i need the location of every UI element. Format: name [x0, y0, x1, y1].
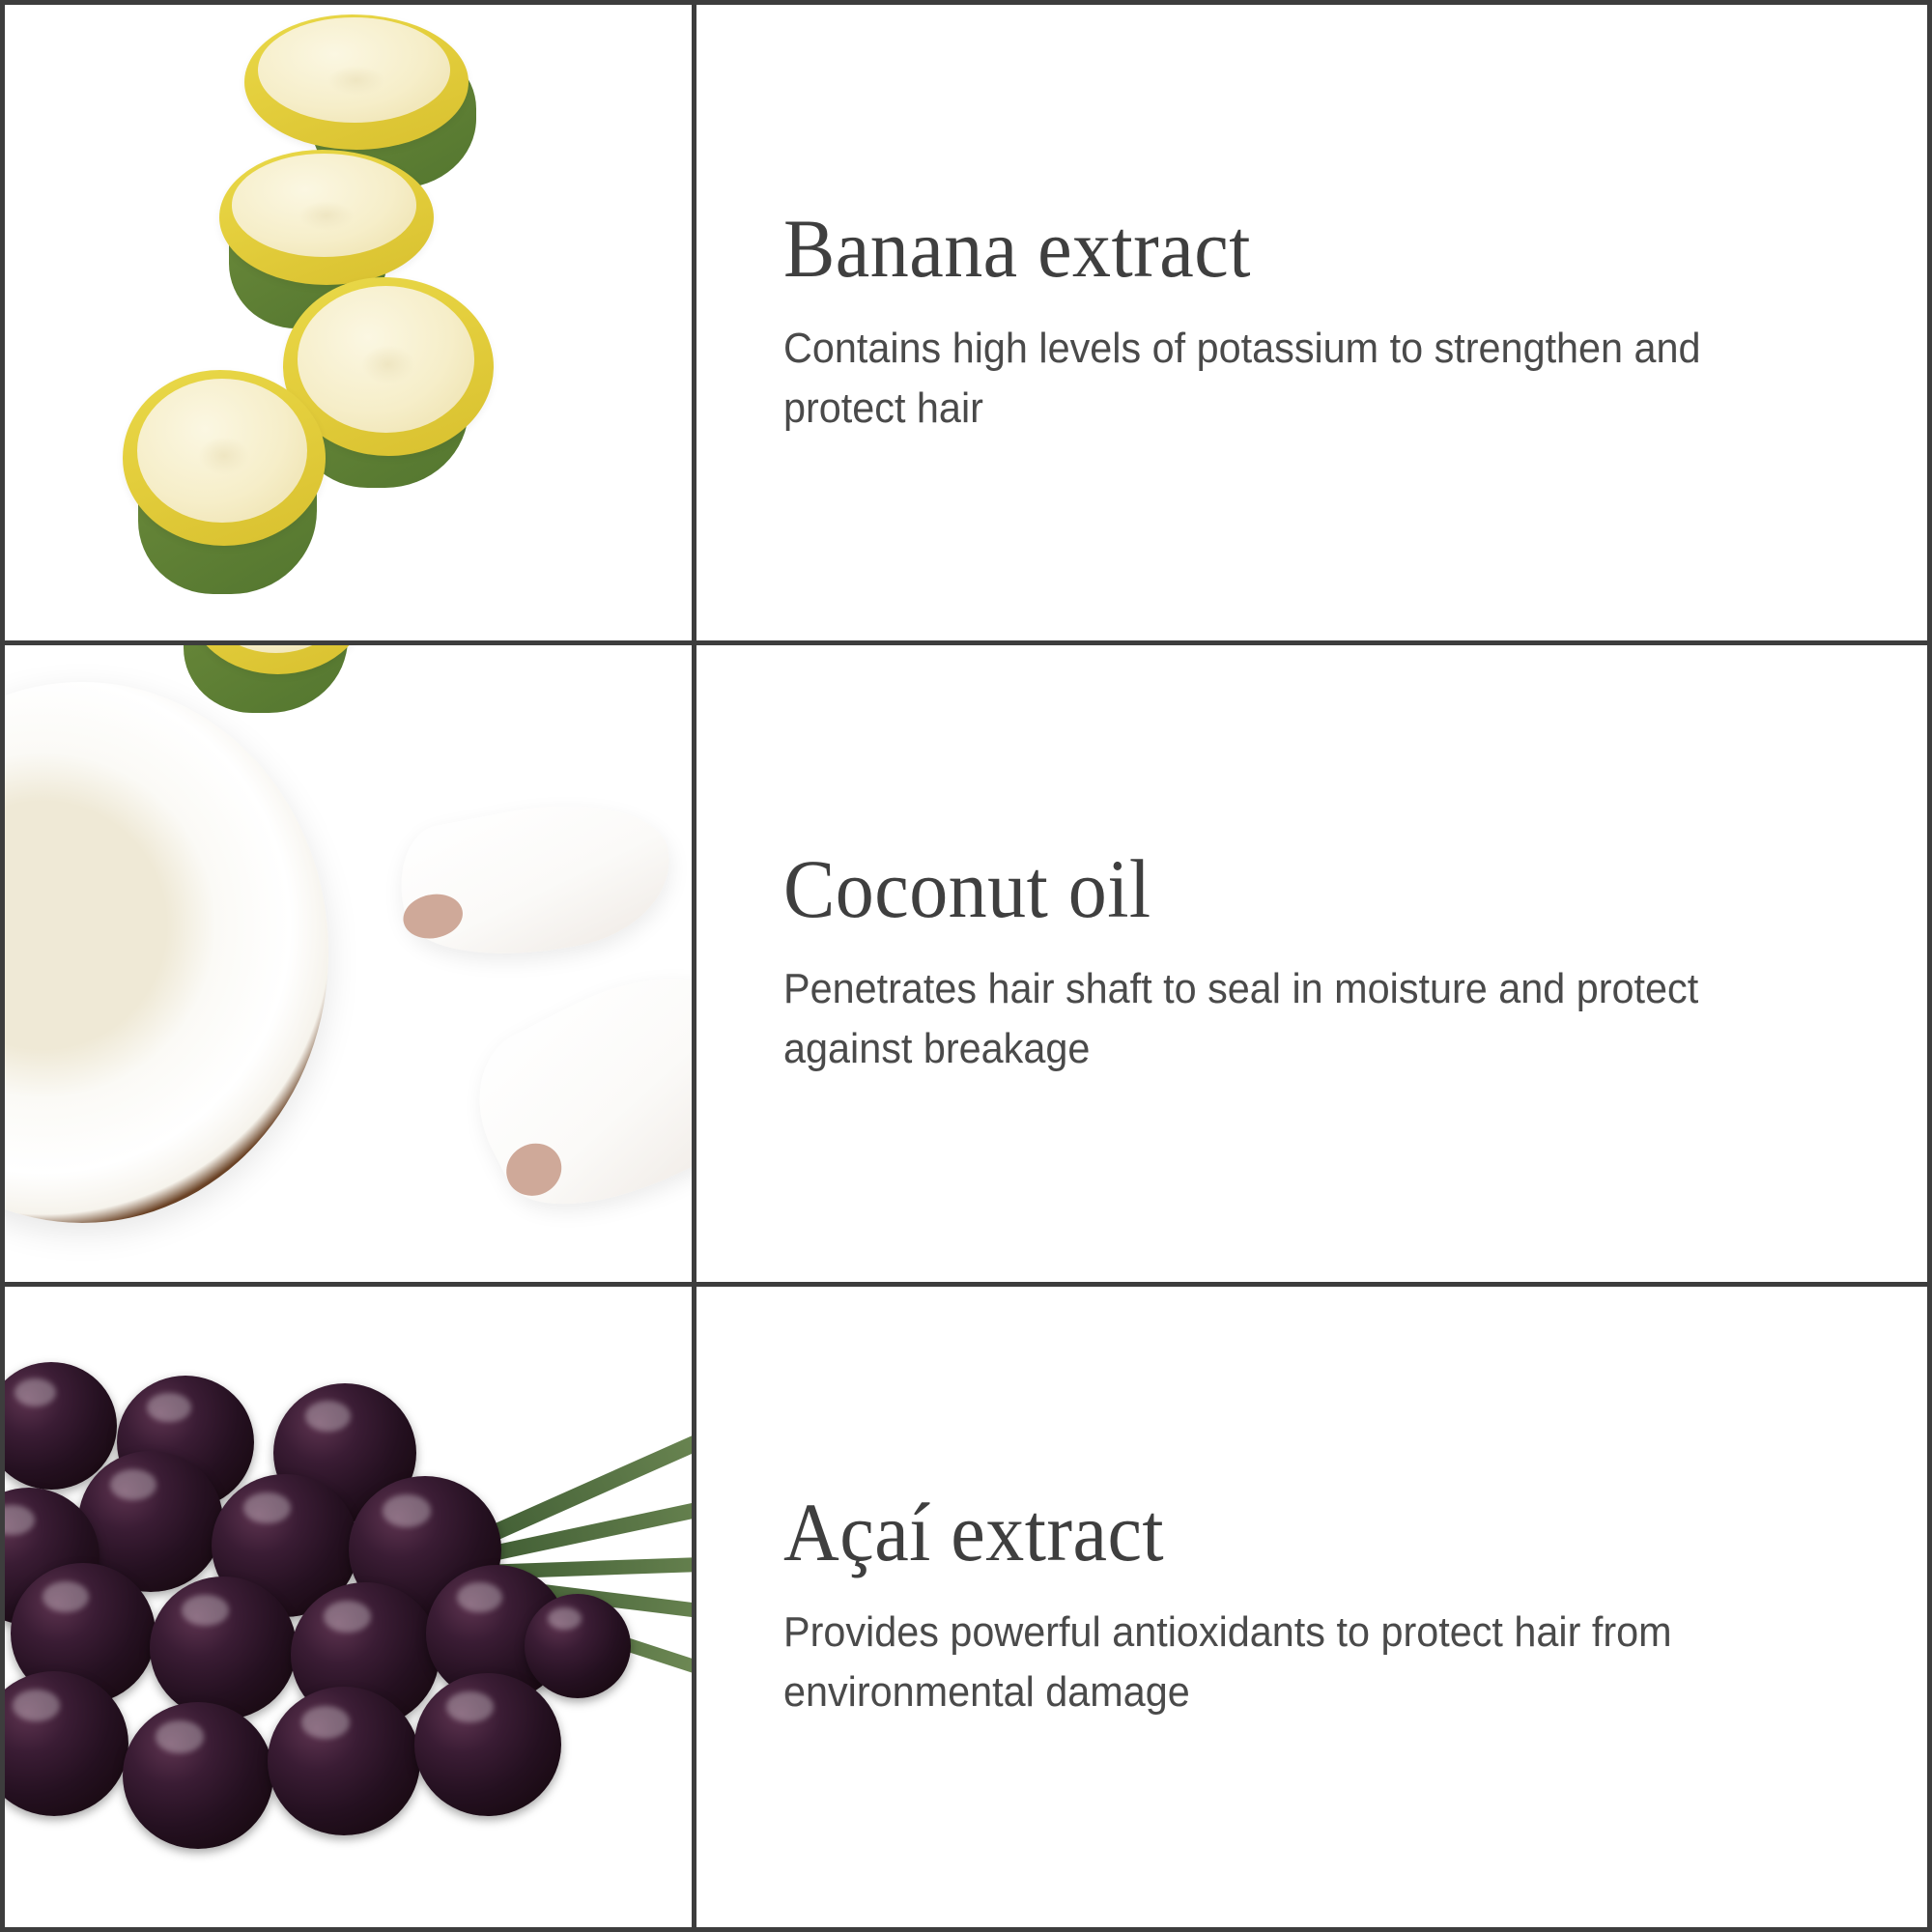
- acai-illustration: [5, 1287, 692, 1927]
- acai-berry: [525, 1594, 631, 1698]
- coconut-rind: [497, 1134, 571, 1206]
- coconut-illustration: [5, 645, 692, 1281]
- coconut-image-cell: [5, 645, 696, 1286]
- panel-body-coconut: Penetrates hair shaft to seal in moistur…: [783, 959, 1746, 1080]
- acai-berry: [123, 1702, 273, 1849]
- acai-text-cell: Açaí extract Provides powerful antioxida…: [696, 1287, 1927, 1927]
- banana-flesh: [203, 645, 350, 653]
- panel-body-banana: Contains high levels of potassium to str…: [783, 319, 1746, 440]
- ingredient-benefits-panel: Banana extract Contains high levels of p…: [0, 0, 1932, 1932]
- banana-slice: [123, 370, 326, 546]
- banana-text-cell: Banana extract Contains high levels of p…: [696, 5, 1927, 645]
- banana-core: [198, 437, 251, 475]
- banana-slice: [244, 14, 469, 150]
- acai-berry: [150, 1577, 297, 1719]
- coconut-half: [5, 682, 328, 1223]
- panel-heading-coconut: Coconut oil: [783, 847, 1784, 930]
- banana-core: [327, 66, 385, 96]
- acai-berry: [414, 1673, 561, 1816]
- ingredient-grid: Banana extract Contains high levels of p…: [5, 5, 1927, 1927]
- banana-core: [361, 345, 416, 384]
- coconut-piece: [450, 941, 696, 1244]
- acai-berry: [268, 1687, 420, 1835]
- coconut-text-cell: Coconut oil Penetrates hair shaft to sea…: [696, 645, 1927, 1286]
- banana-slice: [219, 150, 434, 285]
- acai-image-cell: [5, 1287, 696, 1927]
- coconut-piece: [389, 783, 682, 978]
- banana-illustration: [5, 5, 692, 640]
- panel-body-acai: Provides powerful antioxidants to protec…: [783, 1603, 1746, 1723]
- panel-heading-acai: Açaí extract: [783, 1491, 1784, 1574]
- banana-image-cell: [5, 5, 696, 645]
- banana-core: [298, 201, 355, 231]
- panel-heading-banana: Banana extract: [783, 207, 1784, 290]
- coconut-rind: [400, 890, 467, 944]
